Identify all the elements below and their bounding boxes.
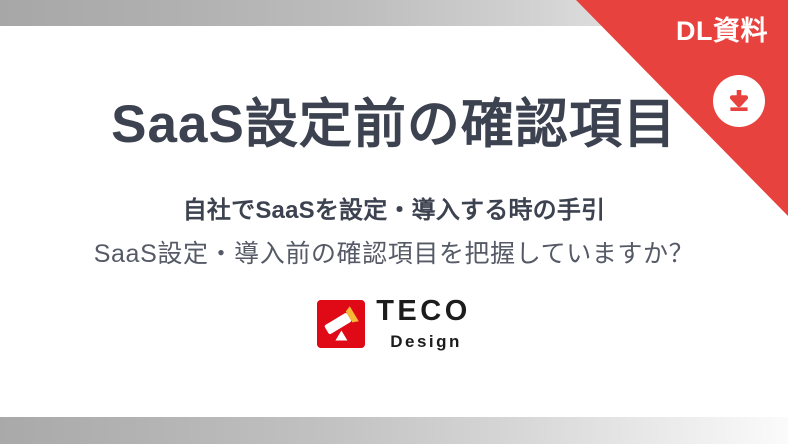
- logo-subname: Design: [390, 333, 462, 350]
- telescope-icon: [317, 300, 365, 348]
- subtitle-secondary: SaaS設定・導入前の確認項目を把握していますか？: [94, 239, 694, 269]
- download-icon[interactable]: [713, 75, 765, 127]
- slide-canvas: DL資料 SaaS設定前の確認項目 自社でSaaSを設定・導入する時の手引 Sa…: [0, 0, 788, 444]
- logo-name: TECO: [376, 297, 471, 326]
- page-title: SaaS設定前の確認項目: [111, 96, 677, 154]
- logo-wordmark: TECO Design: [376, 297, 471, 350]
- teco-design-logo: TECO Design: [317, 297, 471, 350]
- subtitle-primary: 自社でSaaSを設定・導入する時の手引: [183, 197, 606, 226]
- dl-ribbon-label: DL資料: [676, 18, 768, 45]
